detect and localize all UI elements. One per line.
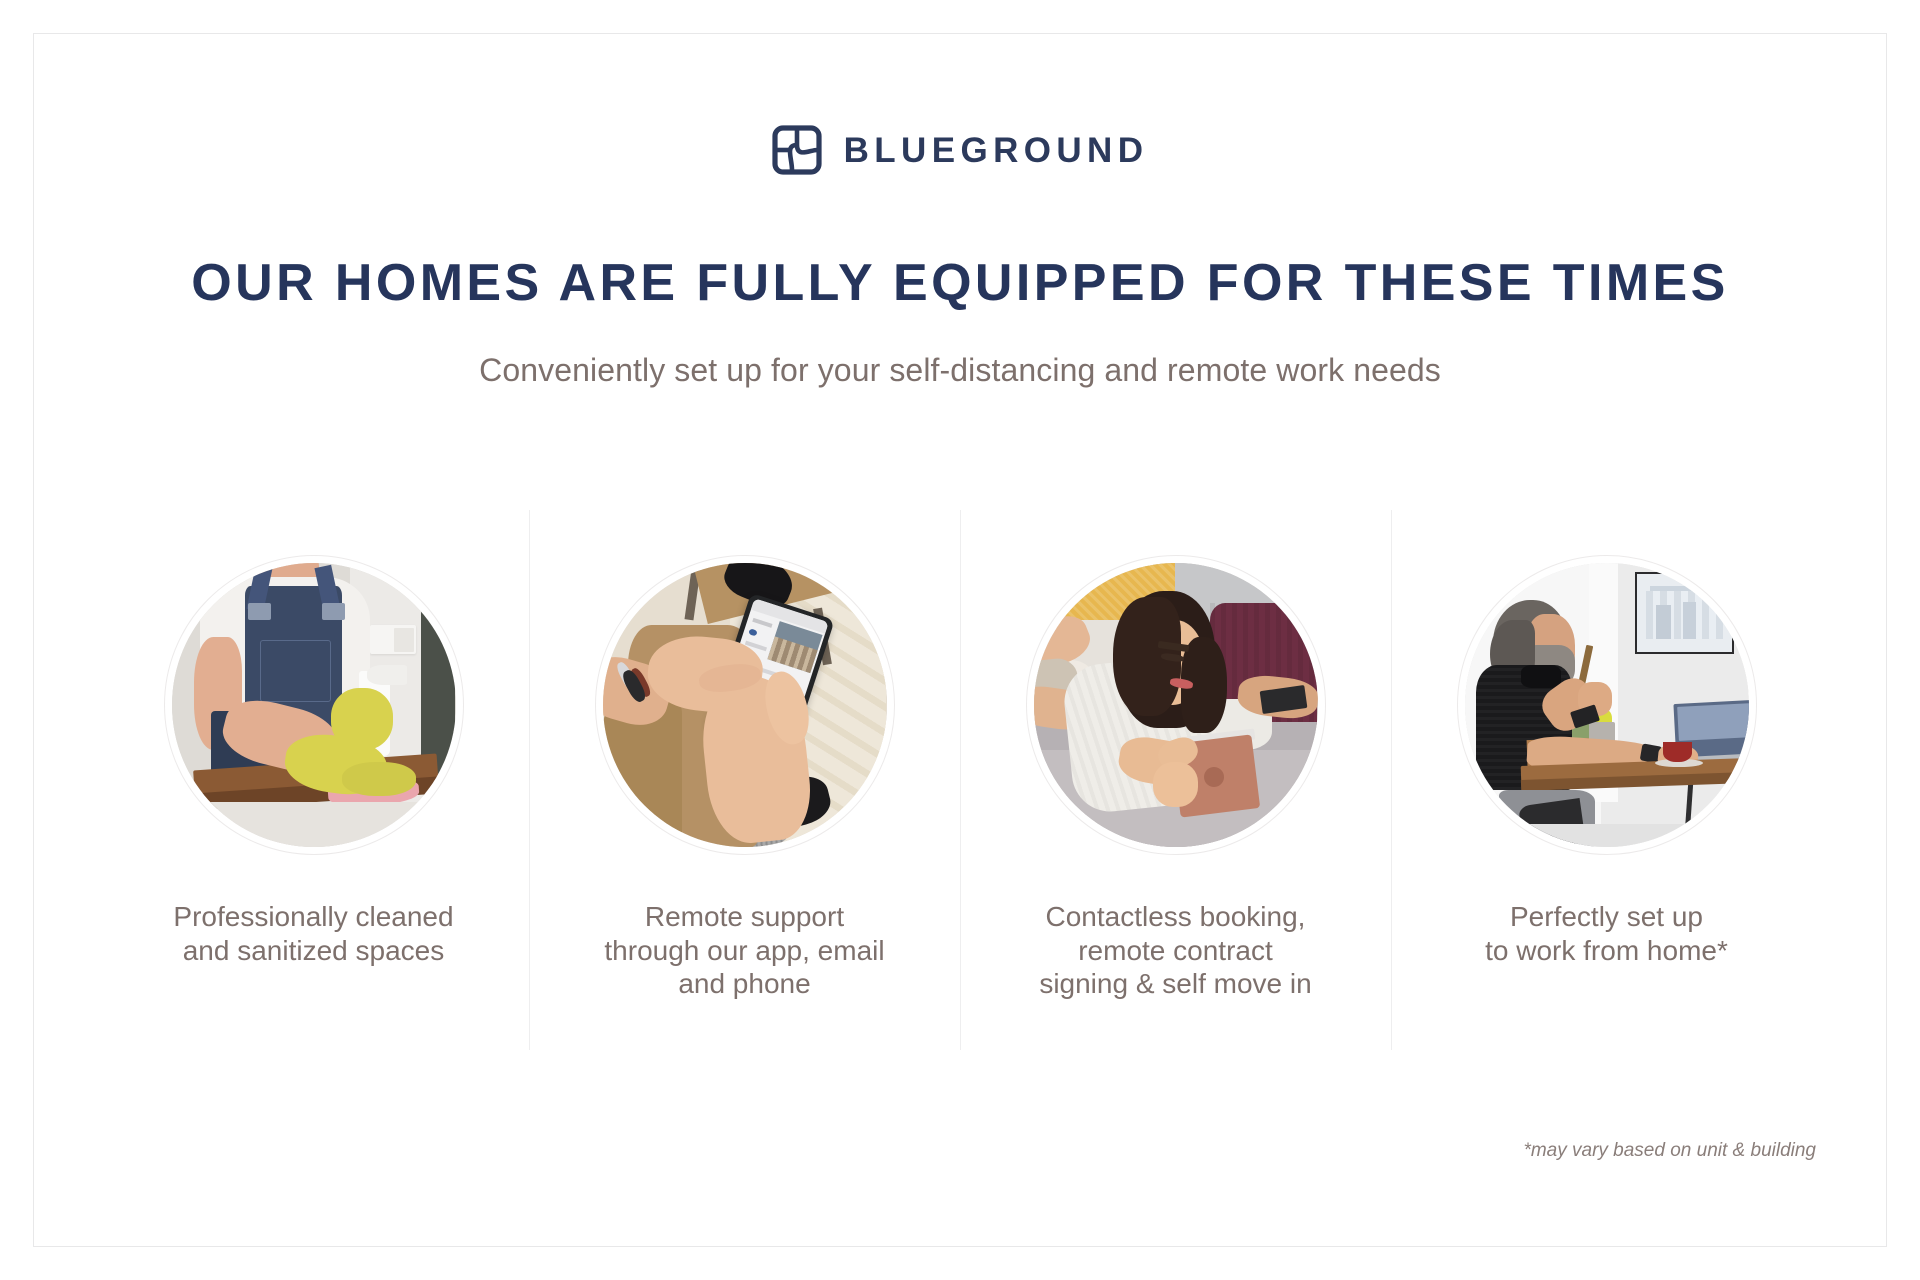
page-title: OUR HOMES ARE FULLY EQUIPPED FOR THESE T…: [0, 255, 1920, 312]
footnote-disclaimer: *may vary based on unit & building: [1523, 1140, 1816, 1162]
photo-work-from-home-desk: [1457, 555, 1757, 855]
brand-wordmark: BLUEGROUND: [844, 133, 1149, 168]
feature-card-cleaning: Professionally cleaned and sanitized spa…: [98, 510, 529, 1050]
feature-card-contactless-booking: Contactless booking, remote contract sig…: [960, 510, 1391, 1050]
page-subtitle: Conveniently set up for your self-distan…: [0, 352, 1920, 389]
feature-caption: Professionally cleaned and sanitized spa…: [173, 900, 453, 967]
feature-caption: Remote support through our app, email an…: [604, 900, 884, 1001]
photo-professional-cleaning: [164, 555, 464, 855]
feature-card-remote-support: Remote support through our app, email an…: [529, 510, 960, 1050]
brand-lockup: BLUEGROUND: [0, 125, 1920, 175]
feature-caption: Contactless booking, remote contract sig…: [1039, 900, 1311, 1001]
promo-page: BLUEGROUND OUR HOMES ARE FULLY EQUIPPED …: [0, 0, 1920, 1280]
photo-contactless-booking-tablet: [1026, 555, 1326, 855]
feature-card-work-from-home: Perfectly set up to work from home*: [1391, 510, 1822, 1050]
blueground-square-mark-icon: [772, 125, 822, 175]
feature-caption: Perfectly set up to work from home*: [1485, 900, 1728, 967]
feature-list: Professionally cleaned and sanitized spa…: [98, 510, 1822, 1050]
photo-remote-support-phone: [595, 555, 895, 855]
